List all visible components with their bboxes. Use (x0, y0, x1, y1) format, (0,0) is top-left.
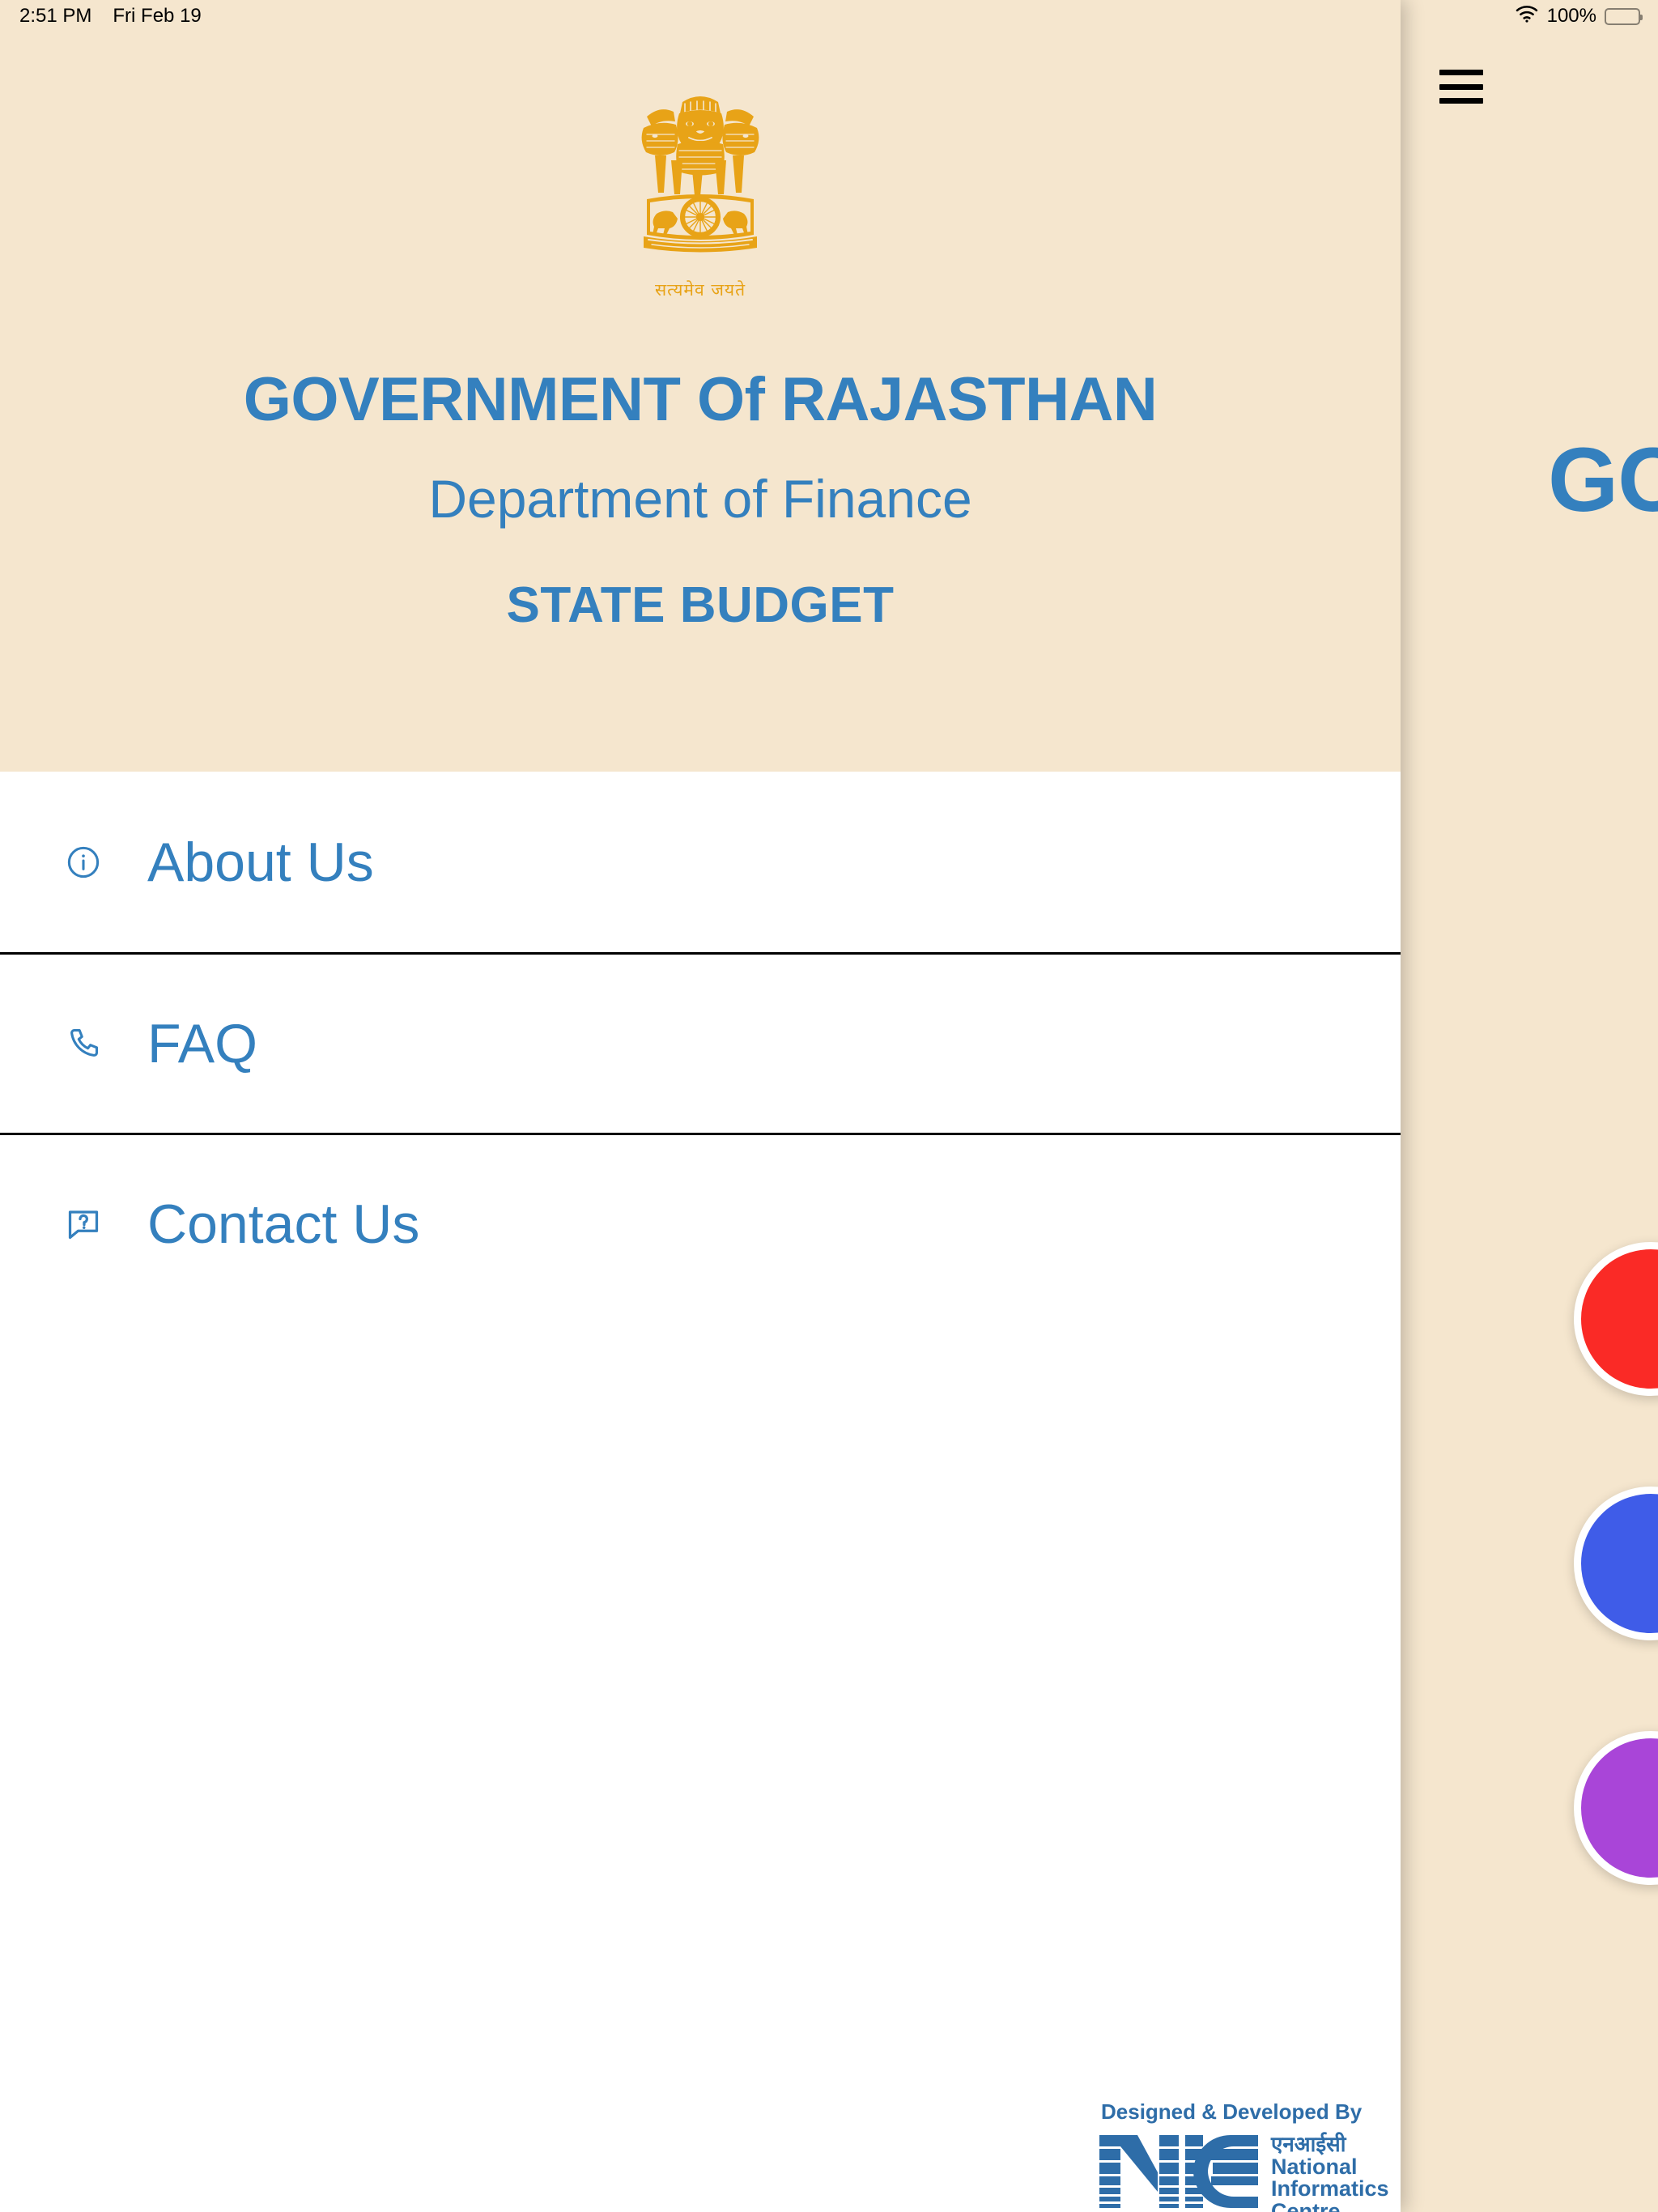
page-title: GOVERNMENT Of RAJASTHAN (0, 364, 1401, 435)
hamburger-bar-1 (1439, 70, 1483, 75)
underlying-page-title: GO (1548, 428, 1658, 532)
nic-line-centre: Centre (1271, 2201, 1389, 2212)
phone-icon (49, 1025, 118, 1062)
nic-logo-mark-icon (1099, 2133, 1261, 2212)
floating-action-button-blue[interactable] (1574, 1487, 1658, 1640)
emblem-motto-text: सत्यमेव जयते (619, 279, 781, 301)
navigation-drawer: सत्यमेव जयते GOVERNMENT Of RAJASTHAN Dep… (0, 0, 1401, 2212)
info-circle-icon (49, 844, 118, 881)
hamburger-menu-icon[interactable] (1439, 70, 1483, 104)
floating-action-button-red[interactable] (1574, 1242, 1658, 1396)
menu-item-faq[interactable]: FAQ (0, 952, 1401, 1133)
nic-footer: Designed & Developed By (1099, 2099, 1391, 2212)
section-title: STATE BUDGET (0, 576, 1401, 634)
nic-hindi-text: एनआईसी (1271, 2134, 1389, 2156)
nic-line-national: National (1271, 2156, 1389, 2179)
nic-logo: एनआईसी National Informatics Centre (1099, 2133, 1391, 2212)
menu-item-label: About Us (147, 835, 374, 890)
menu-item-label: FAQ (147, 1016, 257, 1071)
drawer-menu: About Us FAQ Contact Us (0, 772, 1401, 1313)
designed-developed-by-text: Designed & Developed By (1101, 2099, 1391, 2125)
menu-item-label: Contact Us (147, 1197, 419, 1252)
menu-item-contact-us[interactable]: Contact Us (0, 1133, 1401, 1313)
department-subtitle: Department of Finance (0, 468, 1401, 530)
menu-item-about-us[interactable]: About Us (0, 772, 1401, 952)
question-chat-icon (49, 1206, 118, 1243)
nic-logo-text: एनआईसी National Informatics Centre (1271, 2133, 1389, 2212)
hamburger-bar-3 (1439, 98, 1483, 104)
hamburger-bar-2 (1439, 84, 1483, 90)
national-emblem-of-india-icon: सत्यमेव जयते (619, 71, 781, 310)
drawer-header: सत्यमेव जयते GOVERNMENT Of RAJASTHAN Dep… (0, 0, 1401, 772)
floating-action-button-purple[interactable] (1574, 1731, 1658, 1885)
nic-line-informatics: Informatics (1271, 2178, 1389, 2201)
